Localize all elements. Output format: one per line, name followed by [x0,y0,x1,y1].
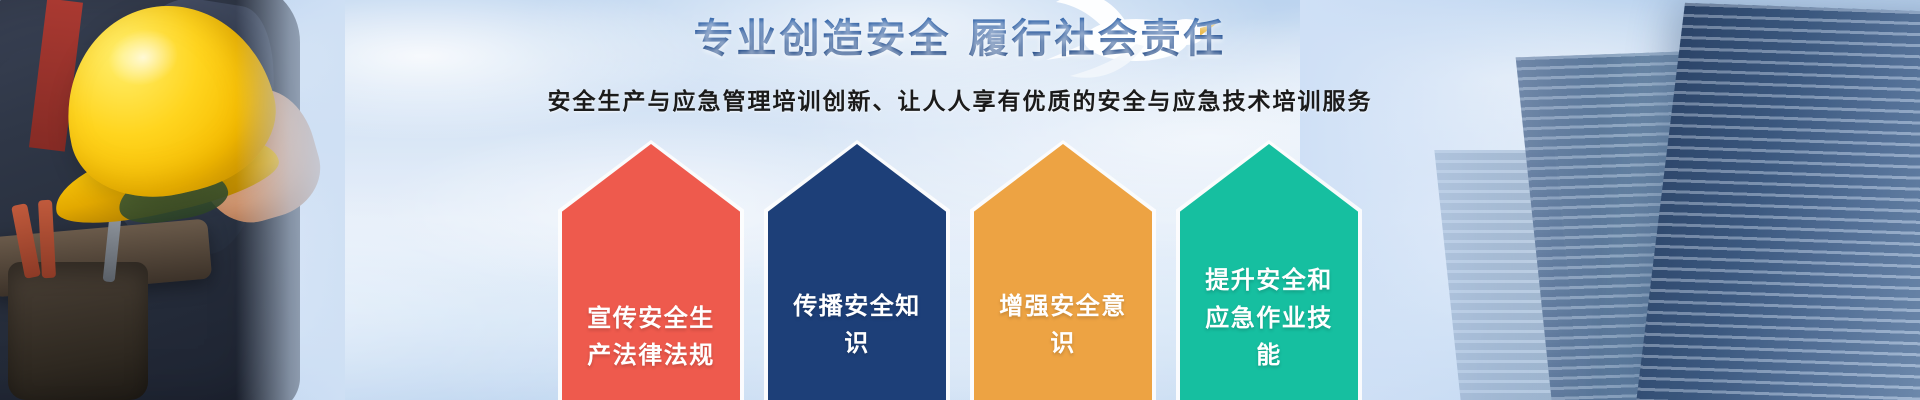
badge-hexagon-4-label: 提升安全和应急作业技能 [1194,262,1344,400]
badge-hexagon-4-fill: 提升安全和应急作业技能 [1180,144,1358,400]
banner-text-block: 专业创造安全 履行社会责任 安全生产与应急管理培训创新、让人人享有优质的安全与应… [0,0,1920,116]
safety-training-banner: 专业创造安全 履行社会责任 安全生产与应急管理培训创新、让人人享有优质的安全与应… [0,0,1920,400]
badge-hexagon-1[interactable]: 宣传安全生产法律法规 [558,140,744,400]
badge-hexagon-3[interactable]: 增强安全意识 [970,140,1156,400]
badge-hexagon-4[interactable]: 提升安全和应急作业技能 [1176,140,1362,400]
badge-hexagon-2-label: 传播安全知识 [782,288,932,400]
badge-hexagon-3-fill: 增强安全意识 [974,144,1152,400]
badge-hexagon-3-label: 增强安全意识 [988,288,1138,400]
badge-hexagon-1-label: 宣传安全生产法律法规 [576,300,726,400]
banner-subtitle: 安全生产与应急管理培训创新、让人人享有优质的安全与应急技术培训服务 [0,82,1920,116]
badge-hexagon-1-fill: 宣传安全生产法律法规 [562,144,740,400]
badge-hexagon-2-fill: 传播安全知识 [768,144,946,400]
badge-row: 宣传安全生产法律法规 传播安全知识 增强安全意识 提升安全和应急作业技能 [0,140,1920,400]
page-title: 专业创造安全 履行社会责任 [0,6,1920,64]
badge-hexagon-2[interactable]: 传播安全知识 [764,140,950,400]
